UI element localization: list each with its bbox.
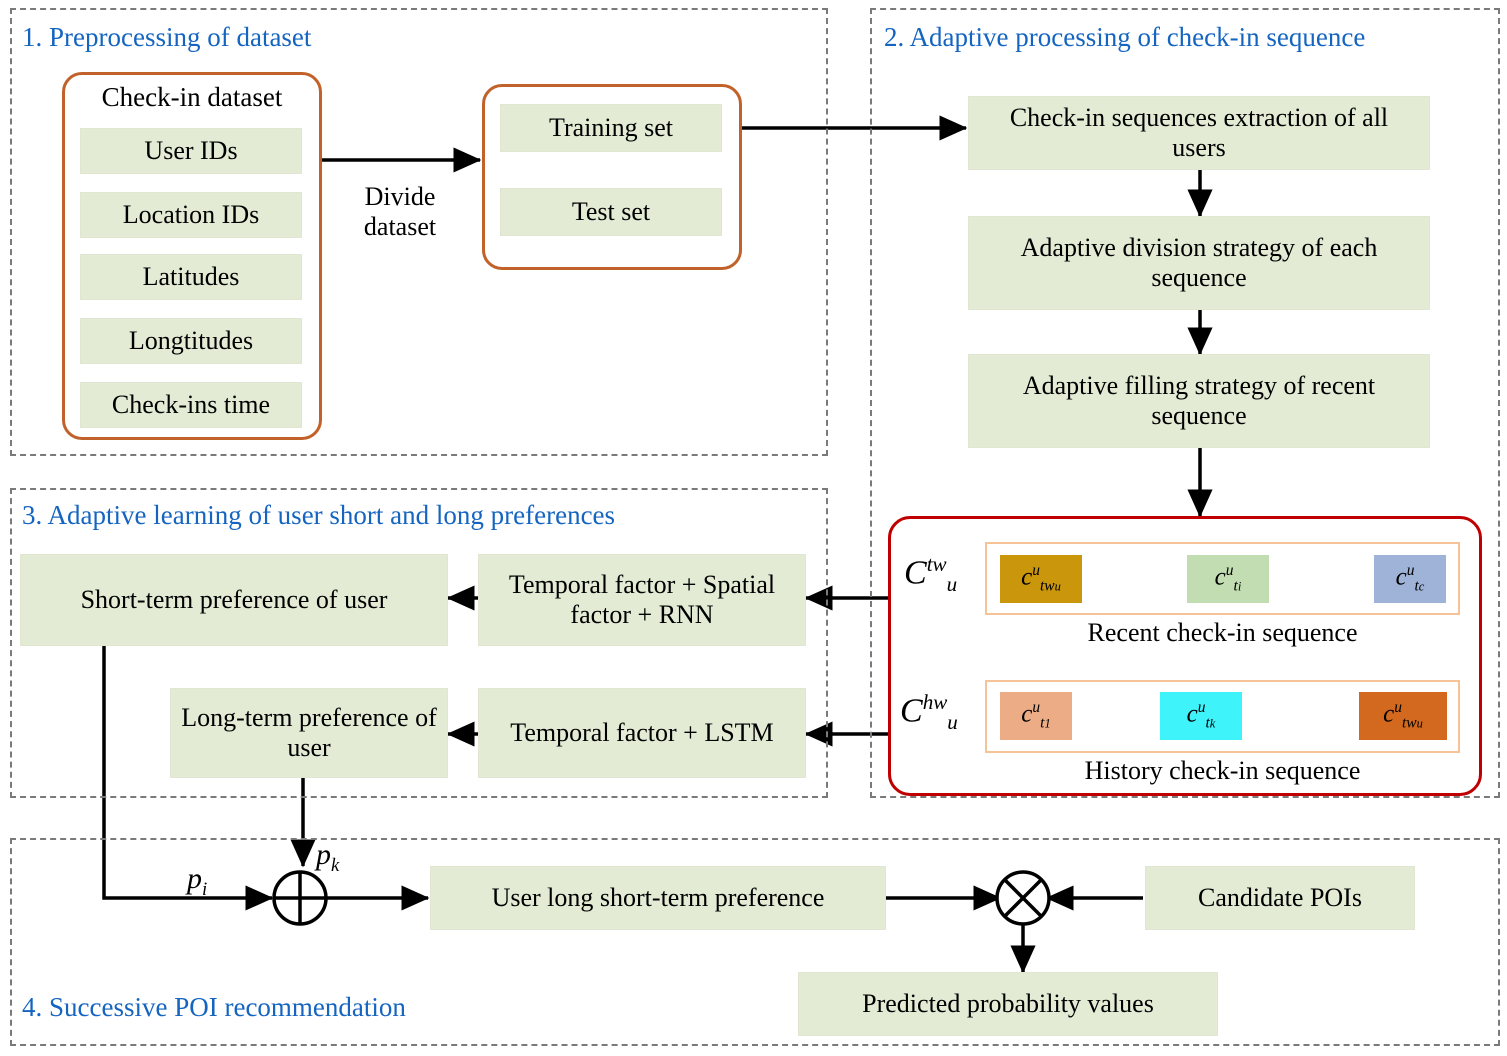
section-1-title: 1. Preprocessing of dataset — [22, 22, 311, 53]
fused-preference-box: User long short-term preference — [430, 866, 886, 930]
history-cell-2: cutk — [1160, 692, 1242, 740]
history-cell-2-sup: u — [1198, 699, 1206, 716]
check-in-dataset-card-title: Check-in dataset — [62, 82, 322, 113]
dataset-field-longtitudes: Longtitudes — [80, 318, 302, 364]
p-k-label-sub: k — [331, 855, 339, 876]
recent-cell-2: cuti — [1187, 555, 1269, 603]
history-sequence-caption: History check-in sequence — [985, 756, 1460, 786]
recent-cell-2-base: c — [1215, 564, 1226, 591]
recent-cell-3-sup: u — [1407, 562, 1415, 579]
dataset-field-latitudes: Latitudes — [80, 254, 302, 300]
step-adaptive-filling: Adaptive filling strategy of recent sequ… — [968, 354, 1430, 448]
history-cell-3-subsub: u — [1417, 717, 1423, 731]
long-term-preference-box: Long-term preference of user — [170, 688, 448, 778]
step-sequence-extraction: Check-in sequences extraction of all use… — [968, 96, 1430, 170]
history-cell-1: cut1 — [1000, 692, 1072, 740]
training-set-box: Training set — [500, 104, 722, 152]
candidate-pois-box: Candidate POIs — [1145, 866, 1415, 930]
recent-cell-3: cutc — [1374, 555, 1446, 603]
short-term-source-box: Temporal factor + Spatial factor + RNN — [478, 554, 806, 646]
section-3-title: 3. Adaptive learning of user short and l… — [22, 500, 615, 531]
p-k-label-base: p — [316, 838, 331, 871]
recent-cell-2-subsub: i — [1238, 580, 1241, 594]
long-term-source-box: Temporal factor + LSTM — [478, 688, 806, 778]
p-i-label-sub: i — [202, 879, 207, 900]
p-i-label: pi — [187, 862, 207, 901]
recent-sequence-symbol-sub: u — [947, 572, 958, 596]
history-cell-3-sub: tw — [1402, 715, 1417, 732]
recent-cell-1-subsub: u — [1055, 580, 1061, 594]
predicted-probability-box: Predicted probability values — [798, 972, 1218, 1036]
history-cell-2-base: c — [1187, 701, 1198, 728]
step-adaptive-division: Adaptive division strategy of each seque… — [968, 216, 1430, 310]
history-cell-3: cutwu — [1359, 692, 1447, 740]
history-cell-1-base: c — [1021, 701, 1032, 728]
history-sequence-symbol: Chwu — [900, 690, 958, 735]
section-4-title: 4. Successive POI recommendation — [22, 992, 406, 1023]
dataset-field-user-ids: User IDs — [80, 128, 302, 174]
recent-cell-1: cutwu — [1000, 555, 1082, 603]
short-term-preference-box: Short-term preference of user — [20, 554, 448, 646]
section-2-title: 2. Adaptive processing of check-in seque… — [884, 22, 1365, 53]
history-cell-1-subsub: 1 — [1044, 717, 1050, 731]
divide-dataset-label-line1: Divide — [340, 182, 460, 212]
recent-cell-1-sub: tw — [1040, 578, 1055, 595]
recent-sequence-caption: Recent check-in sequence — [985, 618, 1460, 648]
recent-sequence-symbol-sup: tw — [927, 552, 947, 576]
dataset-field-check-ins-time: Check-ins time — [80, 382, 302, 428]
divide-dataset-label: Divide dataset — [340, 182, 460, 242]
history-sequence-symbol-base: C — [900, 692, 923, 729]
history-sequence-symbol-sub: u — [947, 710, 958, 734]
history-sequence-symbol-sup: hw — [923, 690, 948, 714]
recent-cell-1-base: c — [1021, 564, 1032, 591]
recent-cell-2-sup: u — [1226, 562, 1234, 579]
history-cell-3-base: c — [1383, 701, 1394, 728]
recent-cell-3-base: c — [1396, 564, 1407, 591]
history-cell-2-subsub: k — [1210, 717, 1216, 731]
recent-sequence-symbol: Ctwu — [904, 552, 957, 597]
recent-cell-1-sup: u — [1032, 562, 1040, 579]
dataset-field-location-ids: Location IDs — [80, 192, 302, 238]
recent-sequence-symbol-base: C — [904, 554, 927, 591]
diagram-canvas: 1. Preprocessing of dataset Check-in dat… — [0, 0, 1507, 1056]
p-i-label-base: p — [187, 862, 202, 895]
history-cell-3-sup: u — [1394, 699, 1402, 716]
recent-cell-3-subsub: c — [1419, 580, 1425, 594]
divide-dataset-label-line2: dataset — [340, 212, 460, 242]
test-set-box: Test set — [500, 188, 722, 236]
p-k-label: pk — [316, 838, 339, 877]
history-cell-1-sup: u — [1032, 699, 1040, 716]
